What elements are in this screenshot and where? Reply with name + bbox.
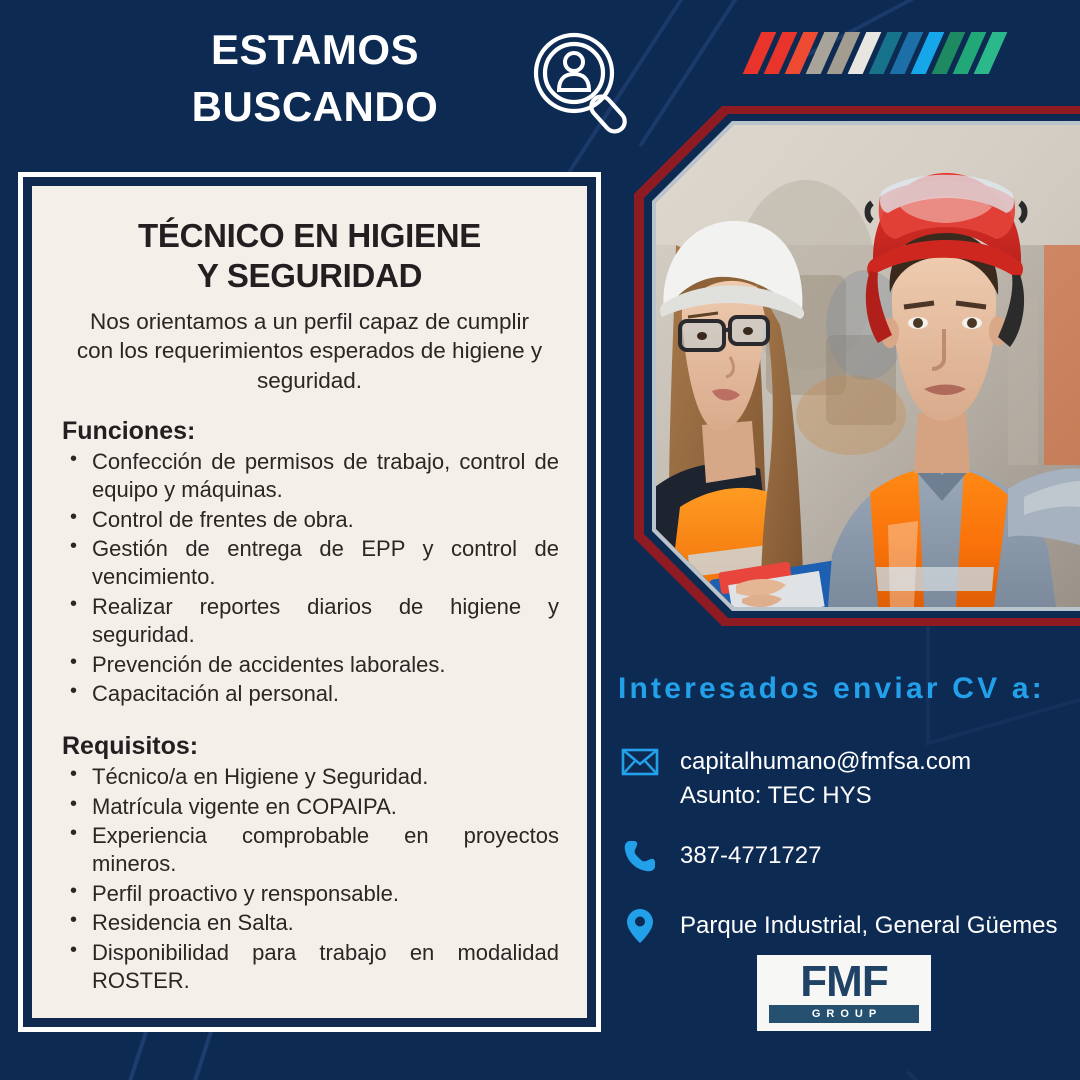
- logo-tagline: GROUP: [769, 1005, 919, 1023]
- requisitos-list: Técnico/a en Higiene y Seguridad. Matríc…: [60, 763, 559, 995]
- workers-photo: [656, 125, 1080, 607]
- list-item: Disponibilidad para trabajo en modalidad…: [90, 939, 559, 996]
- email-subject: Asunto: TEC HYS: [680, 782, 872, 809]
- list-item: Gestión de entrega de EPP y control de v…: [90, 535, 559, 592]
- job-intro-paragraph: Nos orientamos a un perfil capaz de cump…: [70, 307, 549, 395]
- card-content: TÉCNICO EN HIGIENE Y SEGURIDAD Nos orien…: [32, 186, 587, 1018]
- list-item: Perfil proactivo y rensponsable.: [90, 880, 559, 908]
- list-item: Confección de permisos de trabajo, contr…: [90, 448, 559, 505]
- poster-headline: ESTAMOS BUSCANDO: [150, 22, 480, 135]
- headline-line-2: BUSCANDO: [150, 79, 480, 136]
- email-text-block: capitalhumano@fmfsa.com Asunto: TEC HYS: [680, 742, 971, 813]
- list-item: Capacitación al personal.: [90, 680, 559, 708]
- job-title-line-2: Y SEGURIDAD: [60, 256, 559, 296]
- list-item: Prevención de accidentes laborales.: [90, 651, 559, 679]
- email-address[interactable]: capitalhumano@fmfsa.com: [680, 748, 971, 775]
- list-item: Realizar reportes diarios de higiene y s…: [90, 593, 559, 650]
- logo-wordmark: FMF: [800, 962, 887, 1002]
- contact-location-row[interactable]: Parque Industrial, General Güemes: [620, 906, 1058, 946]
- job-title: TÉCNICO EN HIGIENE Y SEGURIDAD: [60, 216, 559, 295]
- search-person-icon: [528, 28, 636, 138]
- stripe-decoration: [752, 32, 998, 74]
- card-border-ring: TÉCNICO EN HIGIENE Y SEGURIDAD Nos orien…: [23, 177, 596, 1027]
- requisitos-section: Requisitos: Técnico/a en Higiene y Segur…: [60, 732, 559, 995]
- list-item: Técnico/a en Higiene y Seguridad.: [90, 763, 559, 791]
- list-item: Control de frentes de obra.: [90, 506, 559, 534]
- funciones-section: Funciones: Confección de permisos de tra…: [60, 417, 559, 708]
- requisitos-heading: Requisitos:: [62, 732, 559, 761]
- fmf-group-logo: FMF GROUP: [757, 955, 931, 1031]
- job-posting-poster: ESTAMOS BUSCANDO TÉCNICO EN HIGIENE: [0, 0, 1080, 1080]
- contact-phone-row[interactable]: 387-4771727: [620, 836, 821, 876]
- funciones-list: Confección de permisos de trabajo, contr…: [60, 448, 559, 708]
- phone-number[interactable]: 387-4771727: [680, 836, 821, 873]
- headline-line-1: ESTAMOS: [150, 22, 480, 79]
- location-pin-icon: [620, 906, 660, 946]
- contact-heading: Interesados enviar CV a:: [618, 672, 1045, 706]
- envelope-icon: [620, 742, 660, 782]
- funciones-heading: Funciones:: [62, 417, 559, 446]
- job-title-line-1: TÉCNICO EN HIGIENE: [60, 216, 559, 256]
- phone-icon: [620, 836, 660, 876]
- zigzag-decoration: [906, 936, 1080, 1080]
- contact-email-row[interactable]: capitalhumano@fmfsa.com Asunto: TEC HYS: [620, 742, 971, 813]
- list-item: Matrícula vigente en COPAIPA.: [90, 793, 559, 821]
- job-details-card: TÉCNICO EN HIGIENE Y SEGURIDAD Nos orien…: [18, 172, 601, 1032]
- list-item: Experiencia comprobable en proyectos min…: [90, 822, 559, 879]
- location-text: Parque Industrial, General Güemes: [680, 906, 1058, 943]
- list-item: Residencia en Salta.: [90, 909, 559, 937]
